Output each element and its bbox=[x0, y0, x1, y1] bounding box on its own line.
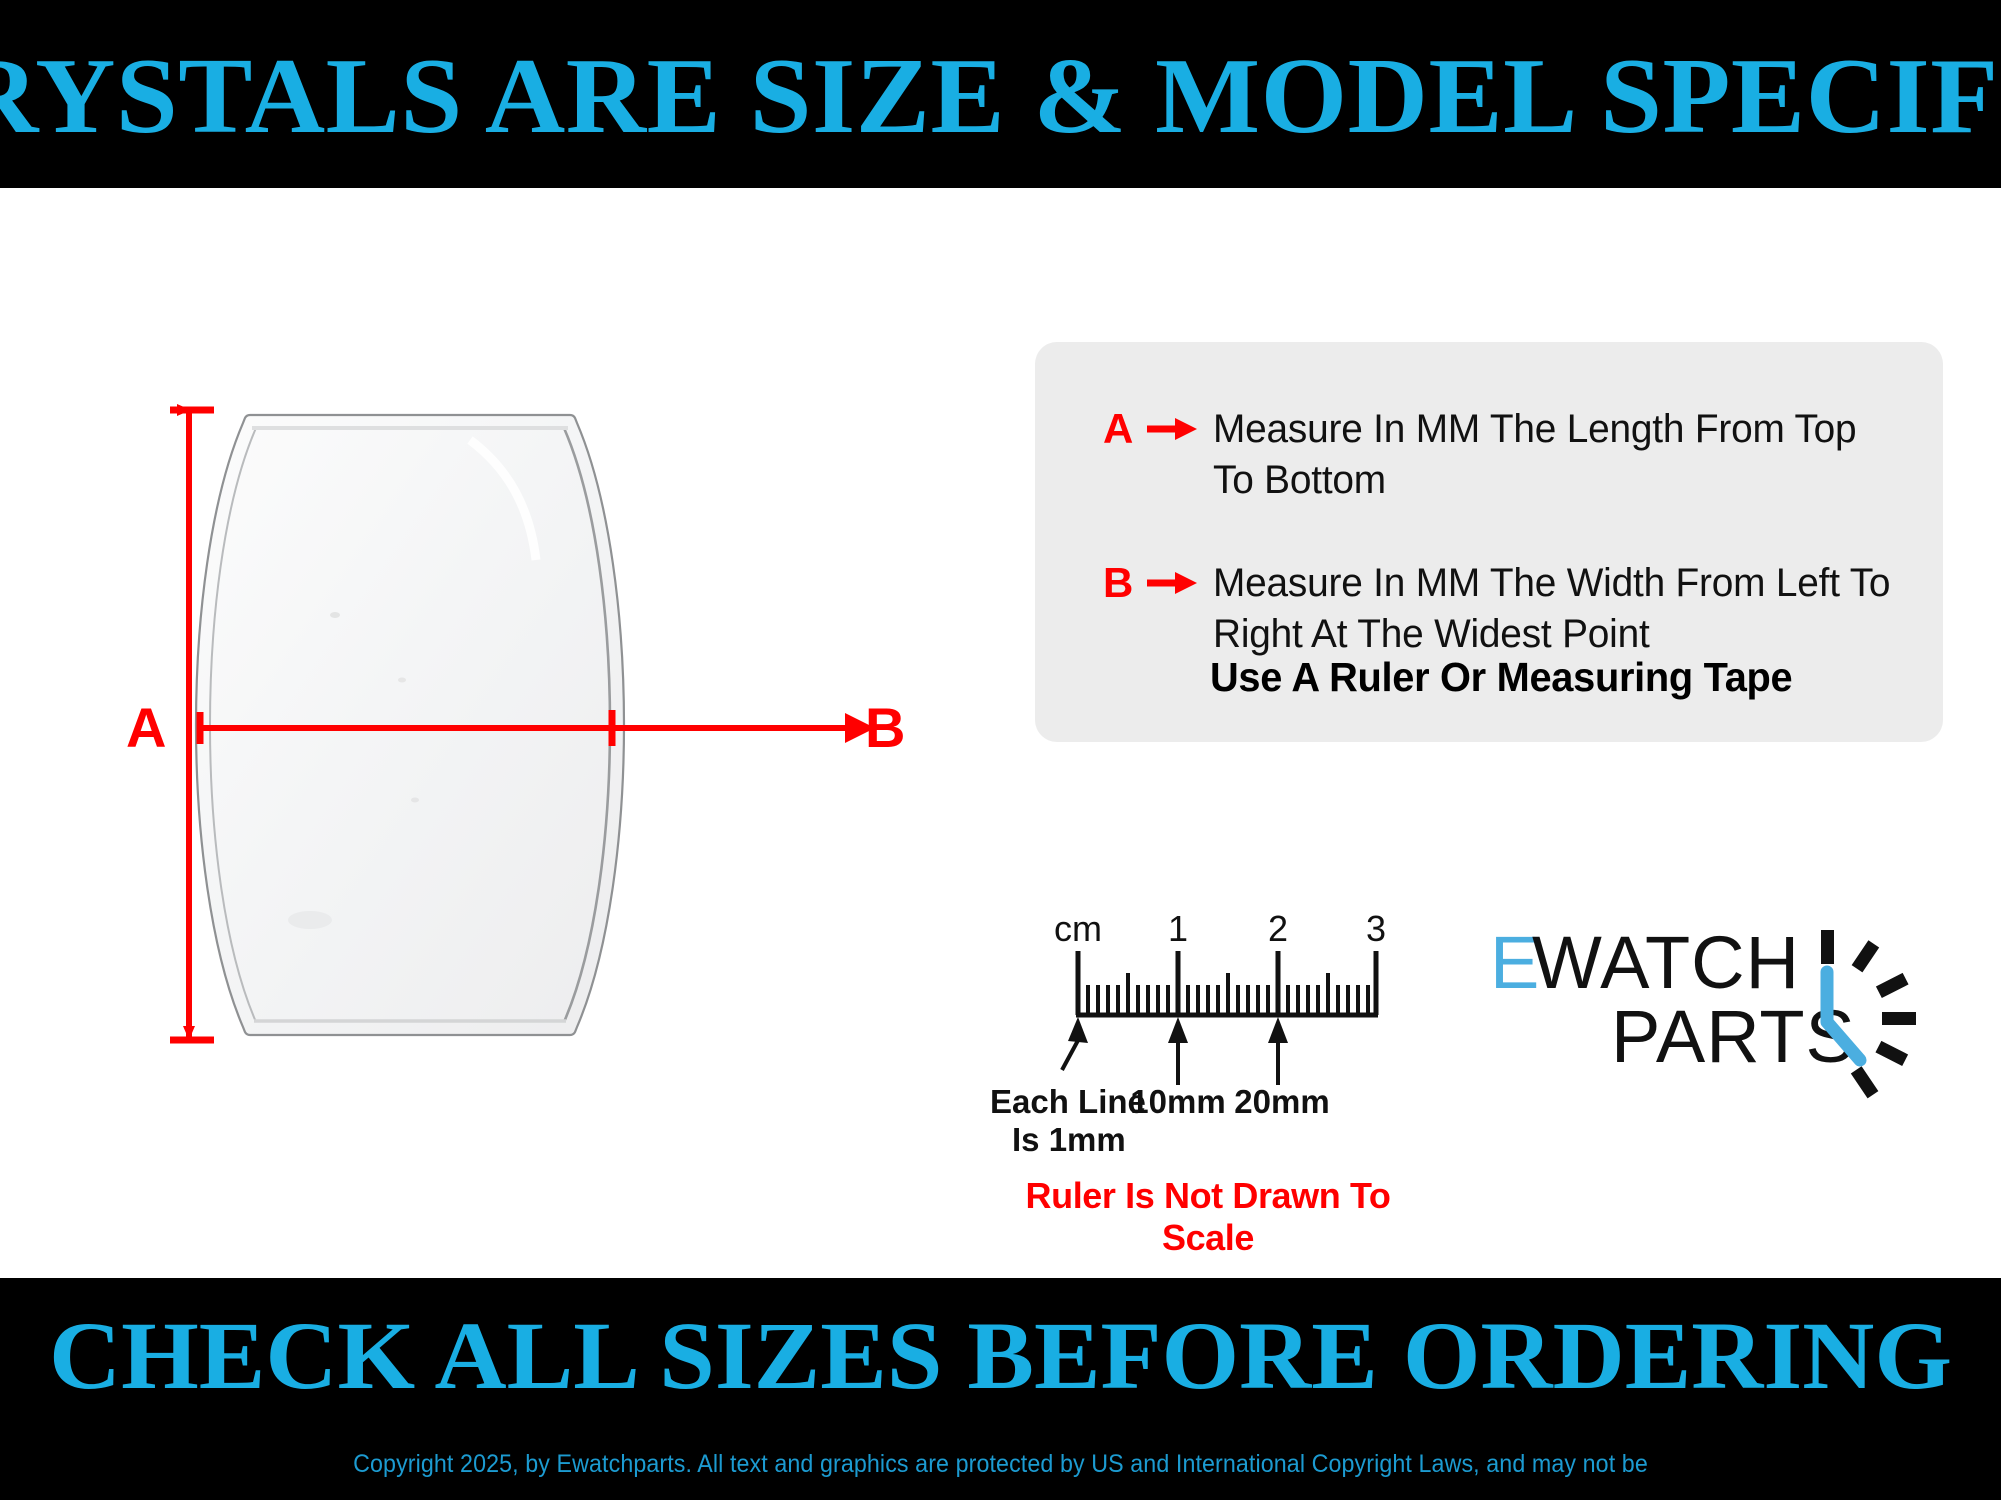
logo-word-parts: PARTS bbox=[1611, 995, 1856, 1078]
bottom-banner: CHECK ALL SIZES BEFORE ORDERING Copyrigh… bbox=[0, 1278, 2001, 1500]
arrow-right-icon bbox=[1145, 568, 1199, 598]
copyright-line-1: Copyright 2025, by Ewatchparts. All text… bbox=[70, 1440, 1931, 1489]
instruction-item-b: B Measure In MM The Width From Left To R… bbox=[1103, 558, 1913, 660]
dimension-b-label: B bbox=[865, 700, 905, 756]
crystal-sizing-infographic: CRYSTALS ARE SIZE & MODEL SPECIFIC bbox=[0, 0, 2001, 1500]
copyright-line-2: copied, reprinted, published, or otherwi… bbox=[70, 1489, 1931, 1500]
instruction-item-a: A Measure In MM The Length From Top To B… bbox=[1103, 404, 1913, 506]
ruler-tick-label-2: 2 bbox=[1268, 908, 1288, 949]
instruction-footer: Use A Ruler Or Measuring Tape bbox=[1210, 654, 1792, 701]
arrow-right-icon bbox=[1145, 414, 1199, 444]
bottom-banner-title: CHECK ALL SIZES BEFORE ORDERING bbox=[0, 1308, 2001, 1404]
copyright-notice: Copyright 2025, by Ewatchparts. All text… bbox=[70, 1440, 1931, 1500]
dimension-a-label: A bbox=[126, 700, 166, 756]
crystal-diagram bbox=[170, 380, 950, 1100]
ruler-tick-label-3: 3 bbox=[1366, 908, 1386, 949]
logo-word-watch: WATCH bbox=[1532, 921, 1800, 1004]
crystal-illustration-svg bbox=[170, 380, 950, 1100]
top-banner: CRYSTALS ARE SIZE & MODEL SPECIFIC bbox=[0, 0, 2001, 188]
instruction-panel: A Measure In MM The Length From Top To B… bbox=[1035, 342, 1943, 742]
ruler-mark-20mm: 20mm bbox=[1234, 1083, 1329, 1120]
ruler-callout-arrows bbox=[1062, 1017, 1288, 1085]
instruction-text-a: Measure In MM The Length From Top To Bot… bbox=[1213, 404, 1892, 506]
ruler-annotation-line2: Is 1mm bbox=[1012, 1121, 1126, 1155]
ruler-annotation-line1: Each Line bbox=[990, 1083, 1146, 1120]
instruction-key-b: B bbox=[1103, 562, 1139, 604]
ewatchparts-logo-svg: E WATCH PARTS bbox=[1488, 910, 1918, 1110]
ruler-unit-label: cm bbox=[1054, 908, 1102, 949]
ruler-mark-10mm: 10mm bbox=[1130, 1083, 1225, 1120]
ruler-diagram: cm 1 2 3 Each Line Is 1mm 10mm 20mm bbox=[990, 895, 1420, 1155]
instruction-key-a: A bbox=[1103, 408, 1139, 450]
ruler-tick-label-1: 1 bbox=[1168, 908, 1188, 949]
instruction-text-b: Measure In MM The Width From Left To Rig… bbox=[1213, 558, 1892, 660]
ruler-scale-disclaimer: Ruler Is Not Drawn To Scale bbox=[983, 1175, 1433, 1259]
ewatchparts-logo: E WATCH PARTS bbox=[1488, 910, 1918, 1110]
ruler-illustration-svg: cm 1 2 3 Each Line Is 1mm 10mm 20mm bbox=[990, 895, 1420, 1155]
top-banner-title: CRYSTALS ARE SIZE & MODEL SPECIFIC bbox=[0, 43, 2001, 151]
